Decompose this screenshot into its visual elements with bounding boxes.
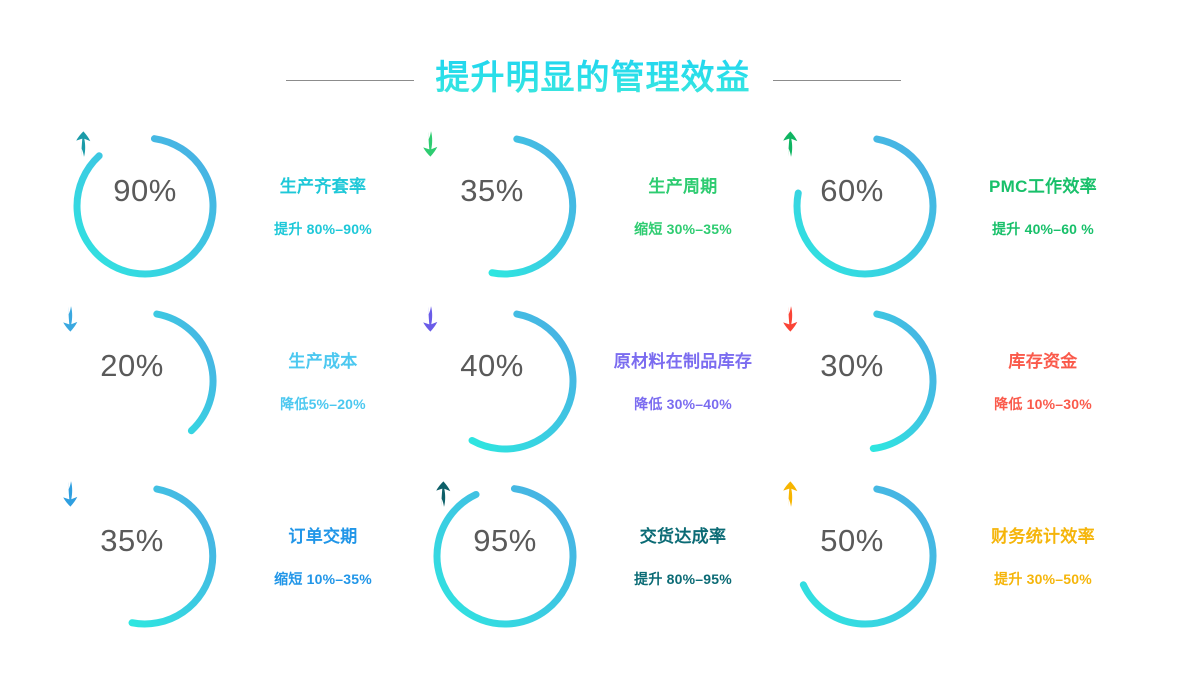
page-title: 提升明显的管理效益 <box>436 56 751 105</box>
metric-labels: 财务统计效率提升 30%–50% <box>958 522 1128 589</box>
metric-card: 90%生产齐套率提升 80%–90% <box>58 118 418 293</box>
ring-arc <box>873 314 933 448</box>
ring-arc <box>437 488 573 623</box>
metric-subtitle: 提升 80%–95% <box>634 569 732 589</box>
ring-svg <box>430 306 580 456</box>
progress-ring: 90% <box>70 131 220 281</box>
ring-arc <box>492 139 573 274</box>
ring-arc <box>472 314 573 449</box>
ring-arc <box>132 489 213 624</box>
ring-arc <box>803 489 933 624</box>
header-rule-right <box>773 80 901 81</box>
metric-title: 交货达成率 <box>640 522 727 547</box>
metric-card: 30%库存资金降低 10%–30% <box>778 293 1138 468</box>
metric-labels: 交货达成率提升 80%–95% <box>598 522 768 589</box>
ring-svg <box>790 306 940 456</box>
metric-labels: PMC工作效率提升 40%–60 % <box>958 172 1128 239</box>
metric-card: 40%原材料在制品库存降低 30%–40% <box>418 293 778 468</box>
metric-title: 原材料在制品库存 <box>614 347 752 372</box>
metric-subtitle: 缩短 10%–35% <box>274 569 372 589</box>
metric-card: 95%交货达成率提升 80%–95% <box>418 468 778 643</box>
metric-subtitle: 降低 30%–40% <box>634 394 732 414</box>
progress-ring: 60% <box>790 131 940 281</box>
metric-labels: 生产周期缩短 30%–35% <box>598 172 768 239</box>
metric-subtitle: 提升 40%–60 % <box>992 219 1094 239</box>
ring-svg <box>790 131 940 281</box>
metric-labels: 原材料在制品库存降低 30%–40% <box>598 347 768 414</box>
ring-svg <box>430 131 580 281</box>
metric-card: 35%生产周期缩短 30%–35% <box>418 118 778 293</box>
progress-ring: 35% <box>430 131 580 281</box>
metric-card: 50%财务统计效率提升 30%–50% <box>778 468 1138 643</box>
metric-labels: 订单交期缩短 10%–35% <box>238 522 408 589</box>
ring-svg <box>70 131 220 281</box>
metric-title: 生产齐套率 <box>280 172 367 197</box>
progress-ring: 35% <box>70 481 220 631</box>
progress-ring: 30% <box>790 306 940 456</box>
metric-title: 订单交期 <box>288 522 357 547</box>
metric-labels: 生产成本降低5%–20% <box>238 347 408 414</box>
metric-title: PMC工作效率 <box>989 172 1097 197</box>
metric-subtitle: 降低 10%–30% <box>994 394 1092 414</box>
ring-svg <box>70 481 220 631</box>
ring-svg <box>790 481 940 631</box>
page-header: 提升明显的管理效益 <box>0 52 1186 108</box>
metric-title: 财务统计效率 <box>991 522 1095 547</box>
metric-title: 生产成本 <box>288 347 357 372</box>
metric-labels: 库存资金降低 10%–30% <box>958 347 1128 414</box>
progress-ring: 50% <box>790 481 940 631</box>
progress-ring: 40% <box>430 306 580 456</box>
metrics-grid: 90%生产齐套率提升 80%–90% 35%生产周期缩短 30%–35% 60%… <box>58 118 1138 643</box>
progress-ring: 95% <box>430 481 580 631</box>
metric-card: 35%订单交期缩短 10%–35% <box>58 468 418 643</box>
metric-subtitle: 提升 30%–50% <box>994 569 1092 589</box>
progress-ring: 20% <box>70 306 220 456</box>
ring-arc <box>157 314 213 431</box>
ring-arc <box>797 139 933 274</box>
header-rule-left <box>286 80 414 81</box>
metric-subtitle: 降低5%–20% <box>280 394 366 414</box>
ring-svg <box>70 306 220 456</box>
metric-title: 库存资金 <box>1008 347 1077 372</box>
metric-subtitle: 提升 80%–90% <box>274 219 372 239</box>
ring-svg <box>430 481 580 631</box>
metric-subtitle: 缩短 30%–35% <box>634 219 732 239</box>
metric-labels: 生产齐套率提升 80%–90% <box>238 172 408 239</box>
metric-title: 生产周期 <box>648 172 717 197</box>
metric-card: 60%PMC工作效率提升 40%–60 % <box>778 118 1138 293</box>
metric-card: 20%生产成本降低5%–20% <box>58 293 418 468</box>
ring-arc <box>77 138 213 273</box>
